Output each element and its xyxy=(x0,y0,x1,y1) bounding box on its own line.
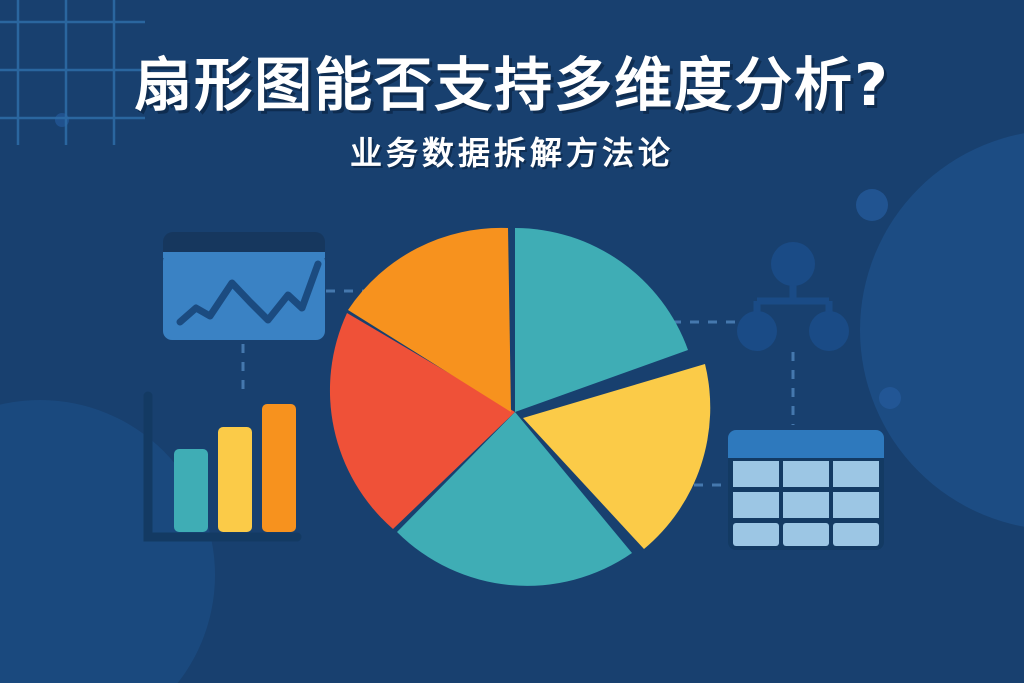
table-icon[interactable] xyxy=(0,0,1024,683)
table-cell xyxy=(833,523,879,546)
table-cell xyxy=(783,523,829,546)
table-cell xyxy=(783,461,829,487)
table-cell xyxy=(733,461,779,487)
table-cell xyxy=(783,492,829,518)
table-cell xyxy=(733,492,779,518)
table-cells xyxy=(733,461,879,546)
table-cell xyxy=(733,523,779,546)
poster-canvas: 扇形图能否支持多维度分析? 业务数据拆解方法论 xyxy=(0,0,1024,683)
table-cell xyxy=(833,461,879,487)
table-cell xyxy=(833,492,879,518)
